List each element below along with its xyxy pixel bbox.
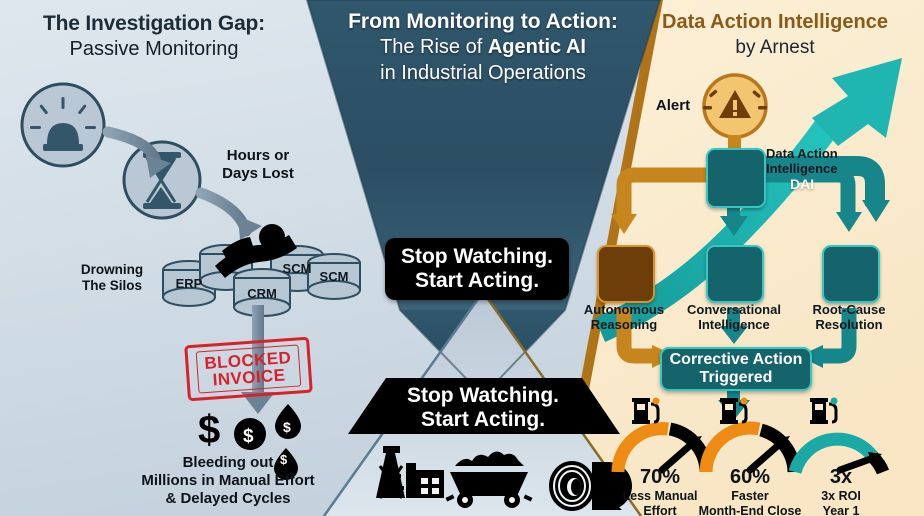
band-line2: Start Acting. [363, 408, 603, 432]
badge-top-line2: Start Acting. [399, 269, 555, 293]
center-title-line3: in Industrial Operations [318, 62, 648, 84]
dai-ribbon-label: DAI [790, 176, 814, 192]
cap-2-line2: Resolution [793, 318, 905, 333]
metric-2-sub2: Year 1 [790, 504, 892, 516]
silo-label-erp: ERP [163, 276, 215, 291]
node-conversational-intelligence[interactable] [706, 245, 764, 303]
right-title-line1: Data Action Intelligence [630, 11, 920, 33]
cap-1-line1: Conversational [673, 303, 795, 318]
bleeding-label-2: Millions in Manual Effort [88, 473, 368, 490]
right-title-line2: by Arnest [630, 37, 920, 58]
silo-label-crm: CRM [234, 286, 290, 301]
fuel-gauge-icon-3 [810, 398, 838, 425]
left-title-line1: The Investigation Gap: [14, 12, 294, 36]
hub-label: Data Action Intelligence [766, 147, 878, 177]
badge-top-line1: Stop Watching. [399, 245, 555, 269]
action-line2: Triggered [670, 369, 803, 387]
center-title-line2: The Rise of Agentic AI [318, 36, 648, 58]
cap-0-line1: Autonomous [566, 303, 682, 318]
arrowhead-autonomous [611, 214, 637, 234]
hours-lost-label-1: Hours or [198, 148, 318, 165]
label-conversational-intelligence: Conversational Intelligence [673, 303, 795, 333]
cap-1-line2: Intelligence [673, 318, 795, 333]
center-title-line2-bold: Agentic AI [488, 36, 586, 58]
center-title-line2-pre: The Rise of [380, 36, 488, 58]
cap-2-line1: Root-Cause [793, 303, 905, 318]
node-root-cause-resolution[interactable] [822, 245, 880, 303]
connector-hub-to-autonomous [624, 175, 706, 219]
infographic-canvas: $ $ $ $ [0, 0, 924, 516]
drowning-label-1: Drowning [62, 262, 162, 277]
node-autonomous-reasoning[interactable] [597, 245, 655, 303]
metric-2-sub1: 3x ROI [790, 489, 892, 504]
hub-label-line1: Data Action [766, 147, 878, 162]
blocked-invoice-stamp: BLOCKED INVOICE [184, 337, 312, 402]
bleeding-label-3: & Delayed Cycles [108, 491, 348, 508]
drowning-label-2: The Silos [62, 278, 162, 293]
stop-watching-band-bottom: Stop Watching. Start Acting. [363, 384, 603, 433]
fuel-gauge-icon-1 [632, 398, 660, 425]
label-root-cause-resolution: Root-Cause Resolution [793, 303, 905, 333]
metric-2-sub: 3x ROI Year 1 [790, 489, 892, 516]
corrective-action-box[interactable]: Corrective Action Triggered [660, 347, 812, 391]
stamp-line2: INVOICE [205, 366, 293, 389]
center-title-line1: From Monitoring to Action: [318, 10, 648, 34]
label-autonomous-reasoning: Autonomous Reasoning [566, 303, 682, 333]
metric-2-value: 3x [796, 466, 886, 489]
fuel-gauge-icon-2 [720, 398, 748, 425]
action-line1: Corrective Action [670, 351, 803, 369]
metric-0-value: 70% [612, 466, 708, 489]
silo-label-scm-2: SCM [308, 269, 360, 284]
hub-label-line2: Intelligence [766, 162, 878, 177]
band-line1: Stop Watching. [363, 384, 603, 408]
alert-label: Alert [643, 98, 703, 115]
cap-0-line2: Reasoning [566, 318, 682, 333]
left-title-line2: Passive Monitoring [14, 38, 294, 60]
bleeding-label-1: Bleeding out [128, 455, 328, 472]
metric-1-value: 60% [702, 466, 798, 489]
node-dai-hub[interactable] [706, 148, 766, 208]
hours-lost-label-2: Days Lost [198, 166, 318, 183]
stop-watching-badge-top: Stop Watching. Start Acting. [385, 238, 569, 300]
